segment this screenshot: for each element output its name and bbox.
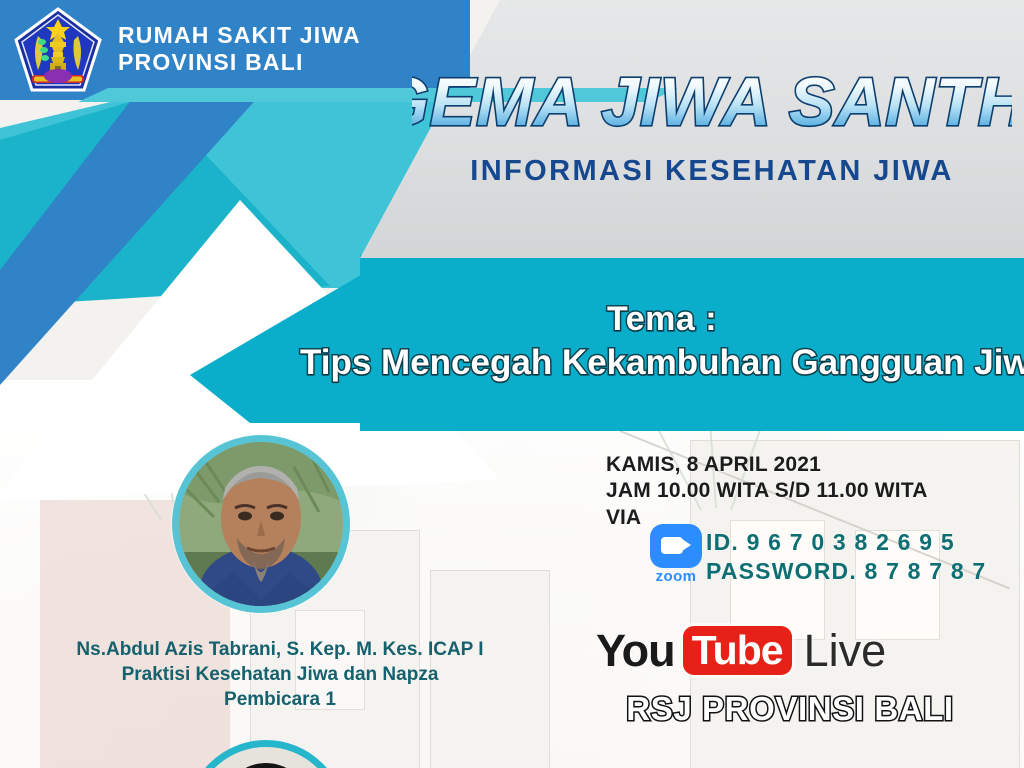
svg-text:GEMA JIWA SANTHI: GEMA JIWA SANTHI	[412, 64, 1012, 140]
speaker-photo-1	[172, 435, 350, 613]
title-gradient-text: GEMA JIWA SANTHI	[412, 63, 1012, 143]
bali-province-crest	[12, 6, 104, 94]
zoom-cam-lens	[682, 539, 691, 551]
theme-block: Tema : Tips Mencegah Kekambuhan Gangguan…	[300, 298, 1024, 386]
youtube-tube-text: Tube	[692, 627, 783, 673]
youtube-live-logo[interactable]: You Tube Live	[596, 626, 886, 675]
poster-subtitle: INFORMASI KESEHATAN JIWA	[412, 155, 1012, 188]
speaker-name: Ns.Abdul Azis Tabrani, S. Kep. M. Kes. I…	[0, 637, 560, 662]
zoom-password: PASSWORD. 8 7 8 7 8 7	[706, 557, 986, 586]
speaker-portrait-2	[193, 747, 339, 768]
org-line-1: RUMAH SAKIT JIWA	[118, 22, 361, 49]
speaker-role: Praktisi Kesehatan Jiwa dan Napza	[0, 662, 560, 687]
theme-label: Tema :	[300, 298, 1024, 340]
crest-icon	[12, 6, 104, 94]
youtube-tube-box: Tube	[683, 626, 792, 675]
event-date: KAMIS, 8 APRIL 2021	[606, 452, 1024, 478]
youtube-live-text: Live	[804, 628, 887, 674]
speaker-order: Pembicara 1	[0, 687, 560, 712]
org-line-2: PROVINSI BALI	[118, 49, 361, 76]
youtube-you-text: You	[596, 628, 675, 674]
zoom-wordmark: zoom	[643, 569, 709, 585]
zoom-cam-body	[661, 537, 683, 554]
speaker-portrait-1	[179, 442, 343, 606]
zoom-credentials: ID. 9 6 7 0 3 8 2 6 9 5 PASSWORD. 8 7 8 …	[706, 528, 986, 586]
event-details: KAMIS, 8 APRIL 2021 JAM 10.00 WITA S/D 1…	[606, 452, 1024, 531]
organization-name: RUMAH SAKIT JIWA PROVINSI BALI	[118, 22, 361, 76]
speaker-caption: Ns.Abdul Azis Tabrani, S. Kep. M. Kes. I…	[0, 637, 560, 712]
event-via-label: VIA	[606, 505, 641, 531]
poster-title: GEMA JIWA SANTHI	[412, 63, 1012, 143]
zoom-meeting-id: ID. 9 6 7 0 3 8 2 6 9 5	[706, 528, 986, 557]
theme-text: Tips Mencegah Kekambuhan Gangguan Jiwa	[300, 340, 1024, 386]
zoom-logo[interactable]: zoom	[643, 524, 709, 586]
event-time: JAM 10.00 WITA S/D 11.00 WITA	[606, 478, 1024, 504]
poster-canvas: RUMAH SAKIT JIWA PROVINSI BALI GEMA JIWA…	[0, 0, 1024, 768]
zoom-camera-icon	[650, 524, 702, 568]
youtube-channel-name: RSJ PROVINSI BALI	[590, 690, 990, 728]
